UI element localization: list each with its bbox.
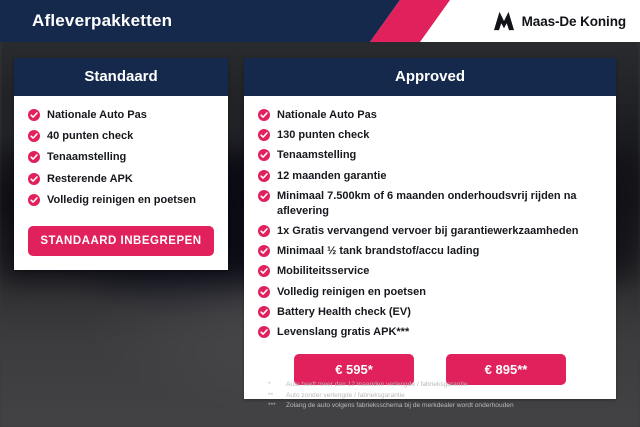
feature-label: Minimaal 7.500km of 6 maanden onderhouds… [277,189,602,219]
feature-label: Volledig reinigen en poetsen [277,285,426,300]
standaard-included-button[interactable]: STANDAARD INBEGREPEN [28,226,214,256]
feature-item: 12 maanden garantie [258,169,602,184]
check-circle-icon [28,173,40,185]
feature-item: Minimaal ½ tank brandstof/accu lading [258,244,602,259]
check-circle-icon [258,225,270,237]
check-circle-icon [258,245,270,257]
page-header: Afleverpakketten Maas-De Koning [0,0,640,42]
check-circle-icon [258,306,270,318]
check-circle-icon [258,286,270,298]
feature-label: 1x Gratis vervangend vervoer bij garanti… [277,224,578,239]
footnote-text: Auto zonder verlengde / fabrieksgarantie [286,391,624,402]
check-circle-icon [28,194,40,206]
card-body-standaard: Nationale Auto Pas40 punten checkTenaams… [14,96,228,270]
feature-label: Resterende APK [47,172,133,187]
feature-label: Nationale Auto Pas [47,108,147,123]
feature-label: Levenslang gratis APK*** [277,325,409,340]
page-title: Afleverpakketten [32,0,172,42]
check-circle-icon [258,170,270,182]
package-card-standaard: Standaard Nationale Auto Pas40 punten ch… [14,58,228,270]
brand-lockup: Maas-De Koning [493,0,626,42]
footnote-row: ***Zolang de auto volgens fabrieksschema… [264,401,624,412]
check-circle-icon [258,190,270,202]
feature-label: Tenaamstelling [277,148,356,163]
feature-item: Mobiliteitsservice [258,264,602,279]
check-circle-icon [28,151,40,163]
feature-item: Minimaal 7.500km of 6 maanden onderhouds… [258,189,602,219]
footnote-text: Auto heeft meer dan 12 maanden verlengde… [286,380,624,391]
feature-item: Tenaamstelling [258,148,602,163]
maas-de-koning-logo-icon [493,11,515,31]
feature-label: 130 punten check [277,128,369,143]
feature-item: Volledig reinigen en poetsen [28,193,214,208]
feature-item: 130 punten check [258,128,602,143]
package-card-approved: Approved Nationale Auto Pas130 punten ch… [244,58,616,399]
check-circle-icon [258,149,270,161]
footnote-text: Zolang de auto volgens fabrieksschema bi… [286,401,624,412]
feature-list-standaard: Nationale Auto Pas40 punten checkTenaams… [28,108,214,208]
footnote-row: *Auto heeft meer dan 12 maanden verlengd… [264,380,624,391]
feature-label: Mobiliteitsservice [277,264,369,279]
check-circle-icon [28,109,40,121]
check-circle-icon [258,129,270,141]
check-circle-icon [258,326,270,338]
check-circle-icon [258,109,270,121]
card-body-approved: Nationale Auto Pas130 punten checkTenaam… [244,96,616,399]
feature-label: 12 maanden garantie [277,169,386,184]
feature-label: Volledig reinigen en poetsen [47,193,196,208]
footnote-marker: * [264,380,286,391]
footnote-marker: *** [264,401,286,412]
feature-item: Battery Health check (EV) [258,305,602,320]
feature-label: Nationale Auto Pas [277,108,377,123]
footnotes: *Auto heeft meer dan 12 maanden verlengd… [264,380,624,412]
brand-name: Maas-De Koning [522,14,626,29]
feature-item: Volledig reinigen en poetsen [258,285,602,300]
feature-list-approved: Nationale Auto Pas130 punten checkTenaam… [258,108,602,340]
check-circle-icon [258,265,270,277]
feature-item: Nationale Auto Pas [28,108,214,123]
check-circle-icon [28,130,40,142]
feature-item: Tenaamstelling [28,150,214,165]
feature-label: Tenaamstelling [47,150,126,165]
feature-label: 40 punten check [47,129,133,144]
feature-label: Battery Health check (EV) [277,305,411,320]
footnote-marker: ** [264,391,286,402]
feature-item: 1x Gratis vervangend vervoer bij garanti… [258,224,602,239]
feature-label: Minimaal ½ tank brandstof/accu lading [277,244,479,259]
feature-item: Resterende APK [28,172,214,187]
card-title-approved: Approved [244,58,616,96]
feature-item: 40 punten check [28,129,214,144]
feature-item: Levenslang gratis APK*** [258,325,602,340]
card-title-standaard: Standaard [14,58,228,96]
feature-item: Nationale Auto Pas [258,108,602,123]
footnote-row: **Auto zonder verlengde / fabrieksgarant… [264,391,624,402]
